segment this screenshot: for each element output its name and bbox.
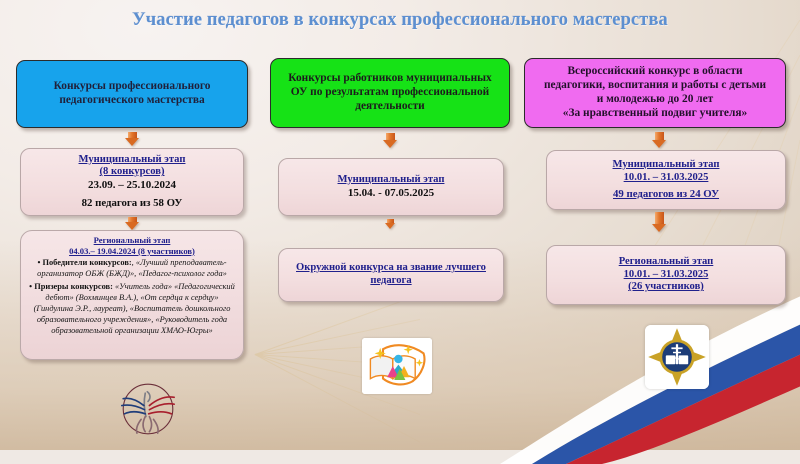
header-box-left[interactable]: Конкурсы профессионального педагогическо… [16, 60, 248, 128]
arrow-right-1 [640, 132, 678, 148]
municipal-right-dates: 10.01. – 31.03.2025 [624, 172, 709, 185]
regional-left-prizes: • Призеры конкурсов: «Учитель года» «Пед… [28, 282, 236, 337]
municipal-left-subtitle: (8 конкурсов) [100, 166, 165, 179]
orthodox-cross-emblem-icon [645, 325, 709, 389]
slide-title: Участие педагогов в конкурсах профессион… [0, 10, 800, 31]
arrow-left-2 [113, 217, 151, 230]
regional-left-prizes-label: • Призеры конкурсов: [29, 282, 113, 291]
municipal-stage-box-right[interactable]: Муниципальный этап 10.01. – 31.03.2025 4… [546, 150, 786, 210]
arrow-left-1 [113, 132, 151, 146]
municipal-middle-dates: 15.04. - 07.05.2025 [348, 187, 434, 200]
municipal-stage-box-middle[interactable]: Муниципальный этап 15.04. - 07.05.2025 [278, 158, 504, 216]
regional-right-participants: (26 участников) [628, 281, 704, 294]
okrug-contest-box-middle[interactable]: Окружной конкурса на звание лучшего педа… [278, 248, 504, 302]
regional-left-subtitle: 04.03.– 19.04.2024 (8 участников) [28, 246, 236, 257]
regional-right-dates: 10.01. – 31.03.2025 [624, 269, 709, 282]
header-box-right[interactable]: Всероссийский конкурс в области педагоги… [524, 58, 786, 128]
header-middle-line2: ОУ по результатам профессиональной [288, 86, 491, 100]
municipal-middle-title: Муниципальный этап [338, 174, 445, 187]
header-right-line1: Всероссийский конкурс в области [544, 65, 766, 79]
header-middle-line3: деятельности [288, 100, 491, 114]
header-right-line3: и молодежью до 20 лет [544, 93, 766, 107]
municipal-stage-box-left[interactable]: Муниципальный этап (8 конкурсов) 23.09. … [20, 148, 244, 216]
okrug-middle-line2: педагога [370, 275, 411, 288]
ugra-education-emblem-icon [362, 338, 432, 394]
municipal-right-title: Муниципальный этап [613, 159, 720, 172]
header-box-middle[interactable]: Конкурсы работников муниципальных ОУ по … [270, 58, 510, 128]
regional-stage-box-right[interactable]: Региональный этап 10.01. – 31.03.2025 (2… [546, 245, 786, 305]
arrow-middle-2 [374, 219, 406, 229]
municipal-left-participants: 82 педагога из 58 ОУ [82, 197, 183, 210]
regional-right-title: Региональный этап [619, 256, 714, 269]
header-left-line1: Конкурсы профессионального [54, 80, 211, 94]
arrow-right-2 [640, 212, 678, 232]
slide-canvas: Участие педагогов в конкурсах профессион… [0, 0, 800, 450]
municipal-left-dates: 23.09. – 25.10.2024 [88, 179, 176, 192]
municipal-right-participants: 49 педагогов из 24 ОУ [613, 188, 719, 201]
municipal-left-title: Муниципальный этап [79, 154, 186, 167]
okrug-middle-line1: Окружной конкурса на звание лучшего [296, 262, 486, 275]
header-right-line2: педагогики, воспитания и работы с детьми [544, 79, 766, 93]
pelican-emblem-icon [113, 378, 183, 440]
regional-left-winners-label: • Победители конкурсов: [37, 258, 131, 267]
header-left-line2: педагогического мастерства [54, 94, 211, 108]
regional-left-title: Региональный этап [28, 235, 236, 246]
regional-left-winners: • Победители конкурсов:, «Лучший препода… [28, 258, 236, 280]
arrow-middle-1 [371, 133, 409, 148]
header-right-line4: «За нравственный подвиг учителя» [544, 107, 766, 121]
regional-stage-box-left[interactable]: Региональный этап 04.03.– 19.04.2024 (8 … [20, 230, 244, 360]
header-middle-line1: Конкурсы работников муниципальных [288, 72, 491, 86]
